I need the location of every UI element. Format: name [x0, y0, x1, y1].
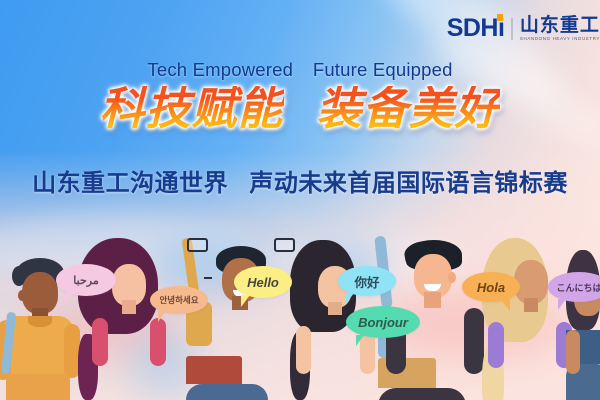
event-banner: SDHi 山东重工 SHANDONG HEAVY INDUSTRY Tech E…: [0, 0, 600, 400]
logo-wordmark: SDHi: [447, 16, 505, 41]
speech-bubble-tail: [356, 335, 364, 346]
tagline-part-2: Future Equipped: [313, 59, 453, 80]
speech-bubble-text: Hello: [247, 275, 279, 290]
neck-shape: [328, 302, 342, 315]
speech-bubble-tail: [64, 293, 73, 305]
speech-bubble-text: مرحبا: [73, 274, 98, 287]
speech-bubble-english: Hello: [234, 266, 292, 298]
speech-bubble-text: Bonjour: [358, 315, 408, 330]
speech-bubble-tail: [158, 311, 166, 322]
ear-shape: [448, 272, 456, 283]
arm-shape: [464, 308, 484, 374]
arm-shape: [296, 326, 311, 374]
arm-shape: [488, 322, 504, 368]
neck-shape: [424, 292, 441, 308]
people-illustration: [0, 235, 600, 400]
person-figure: [482, 238, 578, 400]
speech-bubble-text: Hola: [477, 280, 505, 295]
logo-chinese-brand: 山东重工 SHANDONG HEAVY INDUSTRY: [520, 16, 600, 42]
trousers-shape: [6, 374, 70, 400]
speech-bubble-tail: [558, 299, 566, 310]
speech-bubble-french: Bonjour: [346, 306, 420, 338]
logo-brand-en-sub: SHANDONG HEAVY INDUSTRY: [520, 37, 600, 42]
arm-shape: [92, 318, 108, 366]
logo-wordmark-text: SDHi: [447, 16, 505, 41]
main-headline: 科技赋能 装备美好: [0, 86, 600, 131]
speech-bubble-chinese: 你好: [338, 266, 396, 296]
hoodie-shape: [378, 388, 466, 400]
speech-bubble-arabic: مرحبا: [56, 264, 116, 296]
subtitle-part-2: 声动未来首届国际语言锦标赛: [249, 170, 568, 197]
glasses-icon: [186, 346, 230, 356]
speech-bubble-text: 你好: [354, 272, 379, 291]
logo-divider: [511, 18, 513, 40]
headline-part-1: 科技赋能: [100, 86, 284, 131]
speech-bubble-korean: 안녕하세요: [150, 286, 208, 314]
person-figure: [186, 238, 296, 400]
speech-bubble-tail: [241, 295, 250, 307]
speech-bubble-text: 안녕하세요: [159, 294, 198, 306]
collar-shape: [28, 316, 52, 327]
speech-bubble-text: こんにちは: [556, 281, 600, 294]
speech-bubble-tail: [346, 293, 354, 304]
logo-brand-cn: 山东重工: [520, 16, 600, 35]
speech-bubble-tail: [500, 299, 510, 311]
glasses-bridge: [204, 277, 212, 279]
logo-i-dot-icon: [497, 14, 503, 21]
arm-shape: [150, 318, 166, 366]
headline-part-2: 装备美好: [316, 86, 500, 131]
subtitle-part-1: 山东重工沟通世界: [32, 170, 228, 197]
ear-shape: [18, 290, 26, 301]
arm-shape: [566, 330, 580, 374]
shirt-shape: [186, 384, 268, 400]
trousers-shape: [186, 356, 242, 384]
english-tagline: Tech Empowered Future Equipped: [0, 59, 600, 81]
speech-bubble-spanish: Hola: [462, 272, 520, 302]
neck-shape: [524, 298, 538, 312]
sdhi-logo[interactable]: SDHi 山东重工 SHANDONG HEAVY INDUSTRY: [437, 13, 600, 45]
neck-shape: [122, 300, 136, 314]
chinese-subtitle: 山东重工沟通世界 声动未来首届国际语言锦标赛: [0, 163, 600, 198]
tagline-part-1: Tech Empowered: [147, 59, 293, 80]
